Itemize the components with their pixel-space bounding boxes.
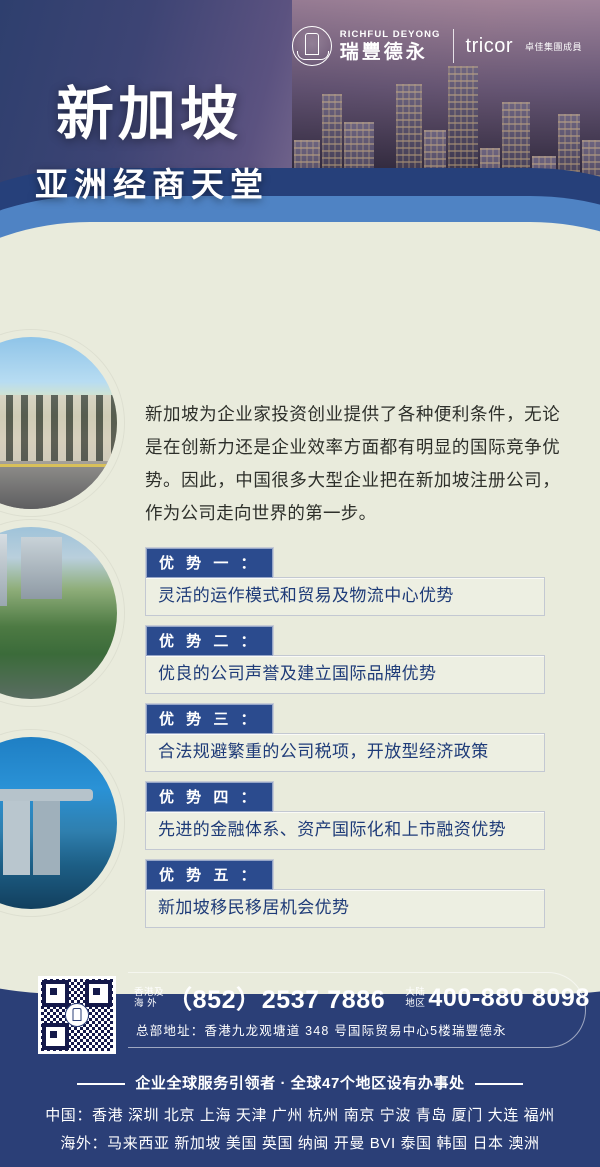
advantage-tag-1: 优 势 一 ： — [145, 547, 274, 578]
advantage-text-1: 灵活的运作模式和贸易及物流中心优势 — [145, 577, 545, 616]
head-office-address: 总部地址：香港九龙观塘道 348 号国际贸易中心5楼瑞豐德永 — [128, 1020, 585, 1039]
photo-circle-greenery — [0, 520, 124, 706]
advantage-item-3: 优 势 三 ： 合法规避繁重的公司税项，开放型经济政策 — [145, 703, 545, 772]
qr-center-logo-icon — [65, 1003, 89, 1027]
phone-row: 香港及 海 外 （852）2537 7886 大陆 地区 400-880 809… — [128, 980, 585, 1016]
hk-phone-label: 香港及 海 外 — [134, 987, 164, 1009]
crest-emblem-icon — [292, 26, 332, 66]
photo-circle-shophouse — [0, 330, 124, 516]
contact-block: 香港及 海 外 （852）2537 7886 大陆 地区 400-880 809… — [128, 972, 586, 1048]
tagline-rule-left — [77, 1083, 125, 1085]
cn-phone-label: 大陆 地区 — [405, 987, 425, 1009]
logo-chinese-name: 瑞豐德永 — [340, 43, 441, 62]
advantage-tag-2: 优 势 二 ： — [145, 625, 274, 656]
tricor-wordmark: tricor — [466, 36, 513, 56]
intro-paragraph: 新加坡为企业家投资创业提供了各种便利条件，无论是在创新力还是企业效率方面都有明显… — [145, 398, 560, 530]
tagline-text: 企业全球服务引领者 · 全球47个地区设有办事处 — [135, 1075, 464, 1092]
advantage-text-3: 合法规避繁重的公司税项，开放型经济政策 — [145, 733, 545, 772]
advantage-tag-3: 优 势 三 ： — [145, 703, 274, 734]
qr-finder-bottom-left — [42, 1023, 69, 1050]
qr-code-pattern — [41, 979, 113, 1051]
advantage-text-2: 优良的公司声誉及建立国际品牌优势 — [145, 655, 545, 694]
city-greenery-image — [0, 527, 117, 699]
advantage-text-5: 新加坡移民移居机会优势 — [145, 889, 545, 928]
logo-divider — [453, 29, 454, 63]
photo-circle-marina-bay — [0, 730, 124, 916]
cn-phone-number[interactable]: 400-880 8098 — [428, 984, 590, 1013]
hk-phone-number[interactable]: （852）2537 7886 — [167, 980, 385, 1016]
advantage-item-1: 优 势 一 ： 灵活的运作模式和贸易及物流中心优势 — [145, 547, 545, 616]
regions-china: 中国：香港 深圳 北京 上海 天津 广州 杭州 南京 宁波 青岛 厦门 大连 福… — [0, 1102, 600, 1130]
qr-finder-top-left — [42, 980, 69, 1007]
advantage-tag-5: 优 势 五 ： — [145, 859, 274, 890]
logo-english-name: RICHFUL DEYONG — [340, 30, 441, 40]
poster-title: 新加坡 — [56, 86, 242, 144]
advantage-item-5: 优 势 五 ： 新加坡移民移居机会优势 — [145, 859, 545, 928]
advantage-text-4: 先进的金融体系、资产国际化和上市融资优势 — [145, 811, 545, 850]
brand-logo: RICHFUL DEYONG 瑞豐德永 tricor 卓佳集團成員 — [292, 26, 582, 66]
richful-deyong-wordmark: RICHFUL DEYONG 瑞豐德永 — [340, 30, 441, 62]
poster-root: RICHFUL DEYONG 瑞豐德永 tricor 卓佳集團成員 新加坡 亚洲… — [0, 0, 600, 1167]
footer-panel: 香港及 海 外 （852）2537 7886 大陆 地区 400-880 809… — [0, 950, 600, 1167]
advantage-item-4: 优 势 四 ： 先进的金融体系、资产国际化和上市融资优势 — [145, 781, 545, 850]
advantage-item-2: 优 势 二 ： 优良的公司声誉及建立国际品牌优势 — [145, 625, 545, 694]
footer-tagline: 企业全球服务引领者 · 全球47个地区设有办事处 — [0, 1072, 600, 1093]
qr-finder-top-right — [85, 980, 112, 1007]
poster-subtitle: 亚洲经商天堂 — [35, 168, 269, 201]
qr-code[interactable] — [38, 976, 116, 1054]
tagline-rule-right — [475, 1083, 523, 1085]
marina-bay-sands-image — [0, 737, 117, 909]
hero-sweep-cream — [0, 222, 600, 330]
regions-overseas: 海外：马来西亚 新加坡 美国 英国 纳闽 开曼 BVI 泰国 韩国 日本 澳洲 — [0, 1130, 600, 1158]
tricor-chinese-label: 卓佳集團成員 — [525, 40, 582, 53]
office-regions: 中国：香港 深圳 北京 上海 天津 广州 杭州 南京 宁波 青岛 厦门 大连 福… — [0, 1102, 600, 1158]
shophouse-street-image — [0, 337, 117, 509]
advantage-tag-4: 优 势 四 ： — [145, 781, 274, 812]
